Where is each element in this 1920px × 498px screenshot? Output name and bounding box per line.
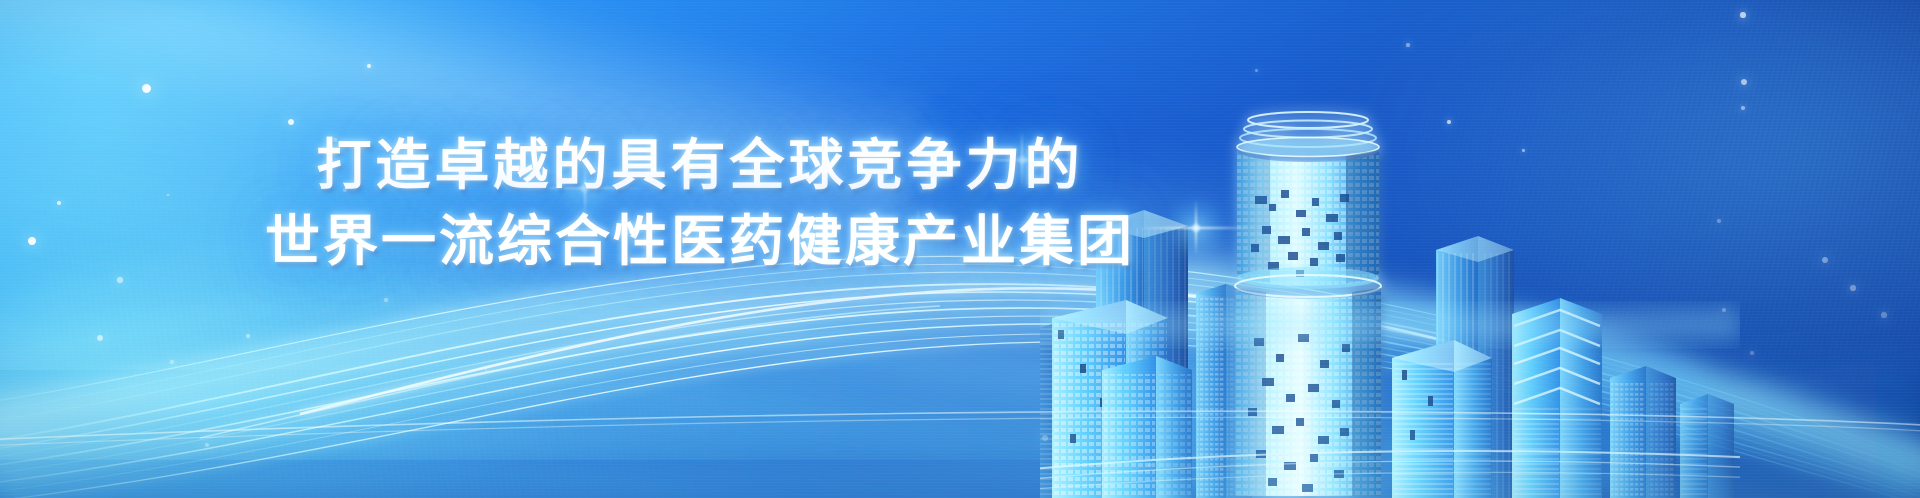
headline-line-1: 打造卓越的具有全球竞争力的: [0, 128, 1400, 204]
hero-banner: 打造卓越的具有全球竞争力的 世界一流综合性医药健康产业集团: [0, 0, 1920, 498]
headline-block: 打造卓越的具有全球竞争力的 世界一流综合性医药健康产业集团: [0, 128, 1400, 280]
headline-line-2: 世界一流综合性医药健康产业集团: [0, 204, 1400, 280]
